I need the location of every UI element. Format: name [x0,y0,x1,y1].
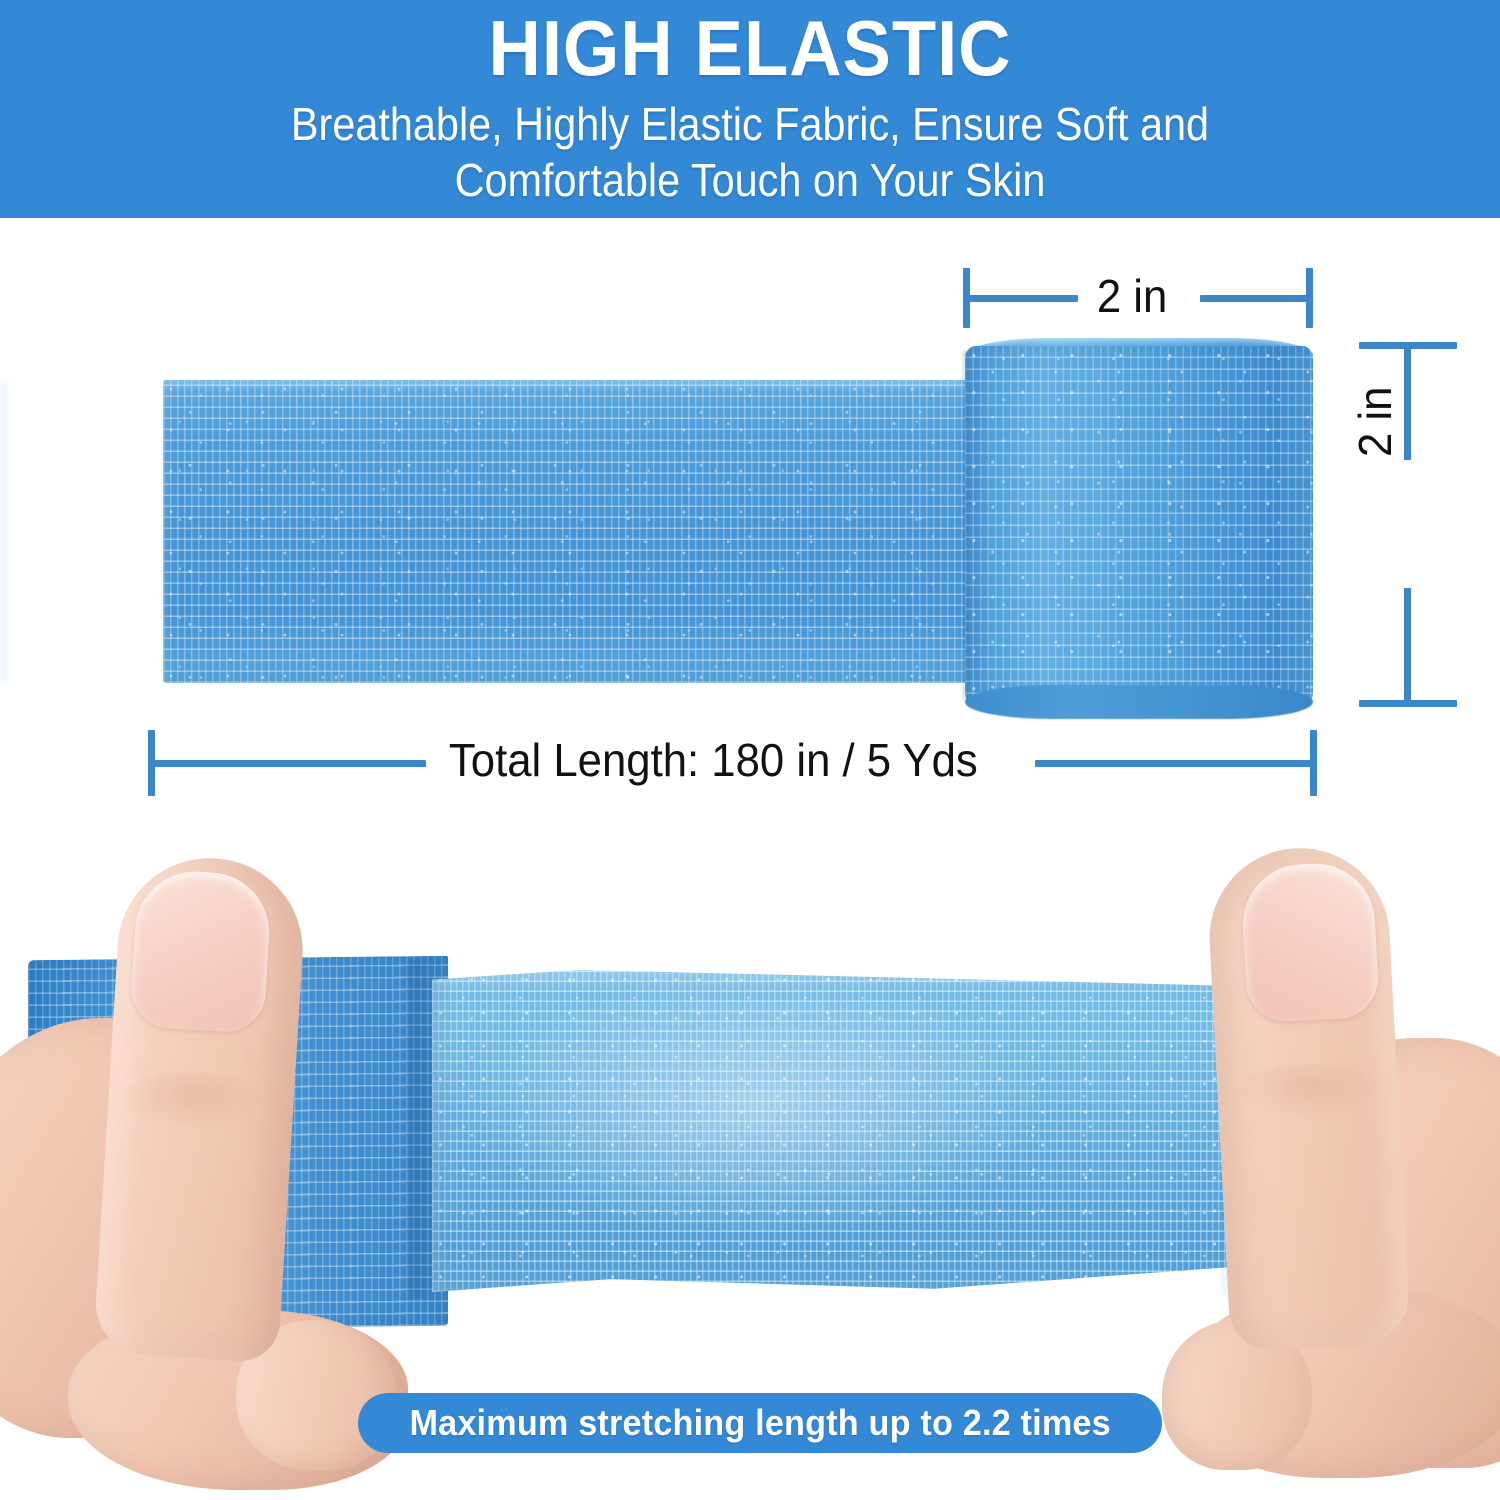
height-dimension-line-lower [1404,588,1411,707]
bandage-roll-body [965,346,1313,706]
product-photo-hands-stretching [0,850,1500,1450]
banner-subtitle-line-1: Breathable, Highly Elastic Fabric, Ensur… [291,98,1209,150]
banner-subtitle: Breathable, Highly Elastic Fabric, Ensur… [183,96,1317,208]
header-banner: HIGH ELASTIC Breathable, Highly Elastic … [0,0,1500,218]
right-thumb-nail [1240,861,1380,1024]
bandage-flat-strip [163,380,993,683]
height-dimension-line-upper [1404,342,1411,460]
left-thumb-nail [129,868,272,1034]
height-dimension-label: 2 in [1353,387,1397,457]
product-photo-flat-and-roll [0,230,1500,730]
right-thumb-knuckle-crease [1236,1064,1384,1120]
bandage-strip-left-edge [0,380,8,683]
bandage-fold-shadow-left [408,960,450,1300]
width-dimension-line-right [1200,295,1313,302]
length-dimension-line-right [1035,760,1317,767]
product-infographic: HIGH ELASTIC Breathable, Highly Elastic … [0,0,1500,1500]
total-length-label: Total Length: 180 in / 5 Yds [449,738,978,782]
bandage-stretched-section [432,970,1242,1292]
length-dimension-line-left [148,760,426,767]
bandage-roll-left-seam [963,350,973,700]
stretch-claim-badge-text: Maximum stretching length up to 2.2 time… [409,1405,1110,1441]
bandage-roll-bottom-ellipse [965,685,1313,719]
banner-title: HIGH ELASTIC [53,4,1448,92]
left-thumb-knuckle-crease [118,1072,268,1130]
width-dimension-line-left [963,295,1078,302]
width-dimension-label: 2 in [1097,274,1167,318]
banner-subtitle-line-2: Comfortable Touch on Your Skin [455,154,1046,206]
stretch-claim-badge: Maximum stretching length up to 2.2 time… [358,1393,1162,1453]
